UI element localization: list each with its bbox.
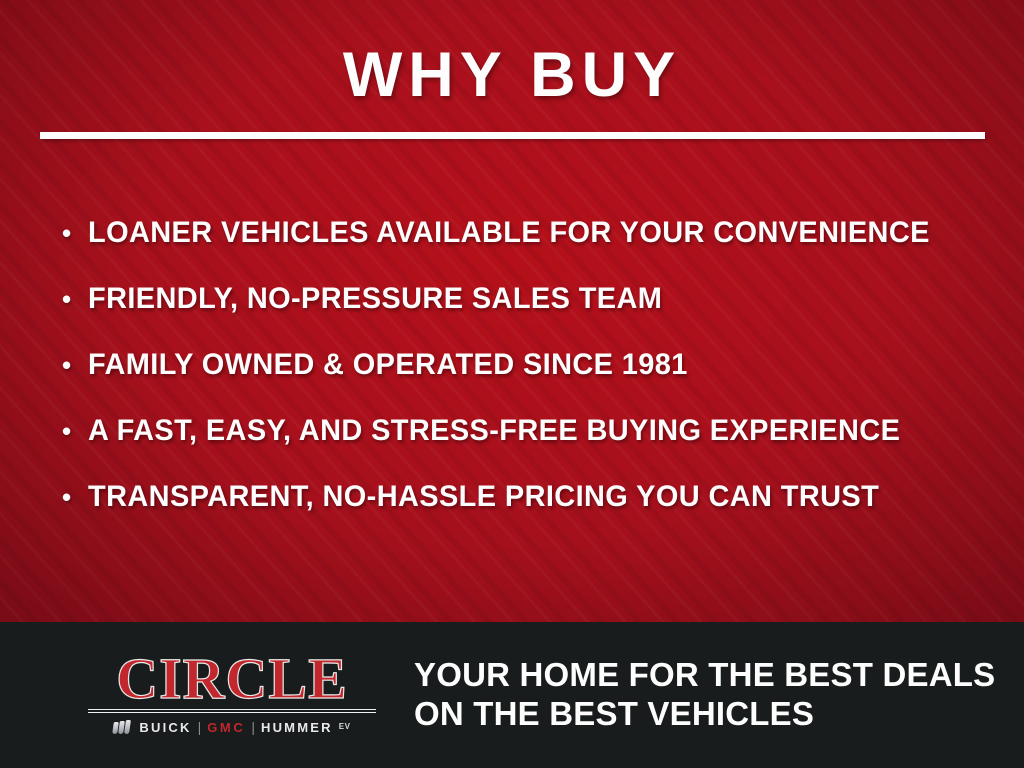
list-item: • FAMILY OWNED & OPERATED SINCE 1981 — [62, 350, 982, 416]
footer-tagline: YOUR HOME FOR THE BEST DEALS ON THE BEST… — [414, 656, 994, 733]
bullet-point-icon: • — [62, 484, 88, 510]
list-item-label: A FAST, EASY, AND STRESS-FREE BUYING EXP… — [88, 416, 951, 446]
bullet-point-icon: • — [62, 220, 88, 246]
list-item-label: FRIENDLY, NO-PRESSURE SALES TEAM — [88, 284, 951, 314]
list-item: • LOANER VEHICLES AVAILABLE FOR YOUR CON… — [62, 218, 982, 284]
buick-tri-shield-icon — [113, 720, 130, 734]
brand-separator: | — [198, 720, 202, 734]
brand-label-buick: BUICK — [139, 721, 191, 734]
brand-row: BUICK | GMC | HUMMER EV — [88, 719, 376, 735]
list-item: • A FAST, EASY, AND STRESS-FREE BUYING E… — [62, 416, 982, 482]
list-item: • TRANSPARENT, NO-HASSLE PRICING YOU CAN… — [62, 482, 982, 548]
list-item: • FRIENDLY, NO-PRESSURE SALES TEAM — [62, 284, 982, 350]
bullet-point-icon: • — [62, 286, 88, 312]
footer-bar: CIRCLE BUICK | GMC | HUMMER EV YOUR HOME… — [0, 622, 1024, 768]
list-item-label: FAMILY OWNED & OPERATED SINCE 1981 — [88, 350, 951, 380]
brand-label-gmc: GMC — [207, 721, 245, 734]
logo-wordmark: CIRCLE — [88, 652, 376, 705]
brand-label-hummer: HUMMER — [261, 721, 333, 734]
brand-separator: | — [251, 720, 255, 734]
bullet-point-icon: • — [62, 352, 88, 378]
footer-tagline-line-2: ON THE BEST VEHICLES — [414, 695, 994, 734]
list-item-label: LOANER VEHICLES AVAILABLE FOR YOUR CONVE… — [88, 218, 951, 248]
brand-label-hummer-ev-suffix: EV — [339, 723, 351, 731]
slide-root: WHY BUY • LOANER VEHICLES AVAILABLE FOR … — [0, 0, 1024, 768]
title-divider-rule — [40, 132, 985, 139]
page-title: WHY BUY — [0, 44, 1024, 107]
slide-background: WHY BUY • LOANER VEHICLES AVAILABLE FOR … — [0, 0, 1024, 622]
benefits-list: • LOANER VEHICLES AVAILABLE FOR YOUR CON… — [62, 218, 982, 548]
dealership-logo: CIRCLE BUICK | GMC | HUMMER EV — [88, 652, 376, 735]
bullet-point-icon: • — [62, 418, 88, 444]
footer-tagline-line-1: YOUR HOME FOR THE BEST DEALS — [414, 656, 994, 695]
list-item-label: TRANSPARENT, NO-HASSLE PRICING YOU CAN T… — [88, 482, 951, 512]
